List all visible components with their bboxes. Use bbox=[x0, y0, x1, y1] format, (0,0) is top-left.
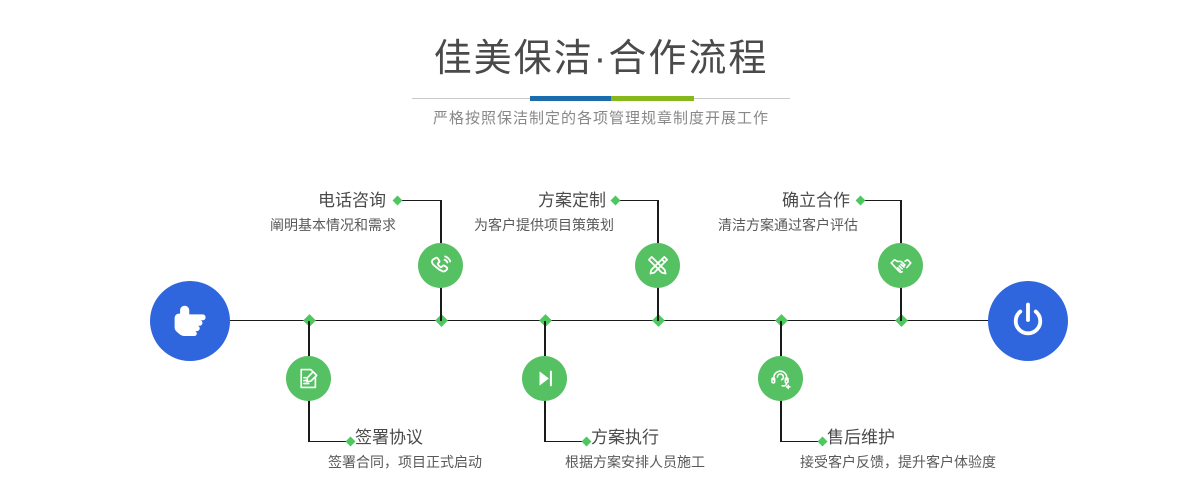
timeline-end-node[interactable] bbox=[988, 281, 1068, 361]
step-node-1[interactable] bbox=[418, 243, 463, 288]
step-label-title-5: 确立合作 bbox=[595, 190, 850, 212]
connector-vline-step-6-lower bbox=[780, 400, 781, 442]
connector-vline-step-5-upper bbox=[900, 200, 901, 244]
pencil-ruler-icon bbox=[645, 253, 671, 279]
connector-vline-step-3-lower bbox=[657, 287, 658, 321]
headset-support-icon bbox=[768, 366, 793, 391]
step-label-desc-3: 为客户提供项目策策划 bbox=[330, 215, 614, 235]
power-icon bbox=[1007, 300, 1049, 342]
step-label-title-6: 售后维护 bbox=[827, 427, 1097, 449]
connector-vline-step-5-lower bbox=[900, 287, 901, 321]
step-node-4[interactable] bbox=[522, 356, 567, 401]
timeline-start-node[interactable] bbox=[150, 281, 230, 361]
step-label-desc-5: 清洁方案通过客户评估 bbox=[575, 215, 858, 235]
step-label-title-1: 电话咨询 bbox=[130, 190, 386, 212]
connector-hline-step-5 bbox=[861, 200, 901, 201]
step-node-5[interactable] bbox=[878, 243, 923, 288]
label-marker-step-5 bbox=[856, 196, 866, 206]
connector-vline-step-4-upper bbox=[544, 321, 545, 356]
step-label-title-3: 方案定制 bbox=[350, 190, 606, 212]
timeline: 电话咨询 阐明基本情况和需求 签署协议 签署合同，项目正式启动 bbox=[0, 0, 1202, 502]
step-node-3[interactable] bbox=[635, 243, 680, 288]
pointing-hand-icon bbox=[168, 299, 212, 343]
process-flow-infographic: 佳美保洁·合作流程 严格按照保洁制定的各项管理规章制度开展工作 bbox=[0, 0, 1202, 502]
play-execute-icon bbox=[532, 366, 557, 391]
connector-vline-step-2-lower bbox=[308, 400, 309, 442]
label-marker-step-2 bbox=[346, 437, 356, 447]
step-node-2[interactable] bbox=[286, 356, 331, 401]
step-label-title-2: 签署协议 bbox=[355, 427, 615, 449]
connector-vline-step-2-upper bbox=[308, 321, 309, 356]
step-node-6[interactable] bbox=[758, 356, 803, 401]
connector-vline-step-1-lower bbox=[440, 287, 441, 321]
step-label-desc-6: 接受客户反馈，提升客户体验度 bbox=[800, 452, 1120, 472]
connector-vline-step-6-upper bbox=[780, 321, 781, 356]
document-pencil-icon bbox=[296, 366, 321, 391]
handshake-icon bbox=[888, 253, 914, 279]
step-label-title-4: 方案执行 bbox=[591, 427, 851, 449]
connector-vline-step-4-lower bbox=[544, 400, 545, 442]
phone-call-icon bbox=[428, 253, 454, 279]
